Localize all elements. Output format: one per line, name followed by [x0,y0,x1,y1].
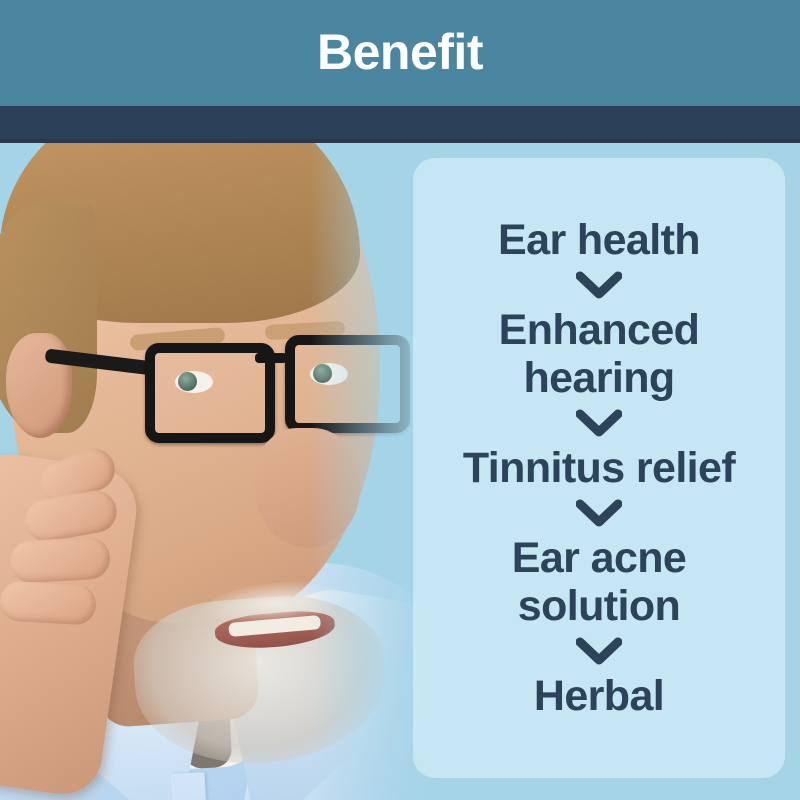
header-divider-bar [0,106,800,143]
photo-inner [0,143,430,800]
photo-edge-fade [310,143,430,800]
page-title: Benefit [0,22,800,82]
chevron-down-icon [576,409,622,437]
finger [0,581,97,626]
chevron-down-icon [576,637,622,665]
benefit-poster: Ear health Enhanced hearing Tinnitus rel… [0,0,800,800]
benefits-list: Ear health Enhanced hearing Tinnitus rel… [413,158,785,778]
senior-man-photo [0,143,430,800]
benefit-item-enhanced-hearing: Enhanced hearing [434,306,764,402]
benefit-item-herbal: Herbal [534,672,664,720]
benefit-item-ear-acne-solution: Ear acne solution [434,534,764,630]
finger [9,536,111,583]
benefit-item-tinnitus-relief: Tinnitus relief [463,444,735,492]
chevron-down-icon [576,271,622,299]
chevron-down-icon [576,499,622,527]
benefit-item-ear-health: Ear health [498,216,700,264]
ear [6,333,72,438]
glasses-bridge [255,353,287,363]
